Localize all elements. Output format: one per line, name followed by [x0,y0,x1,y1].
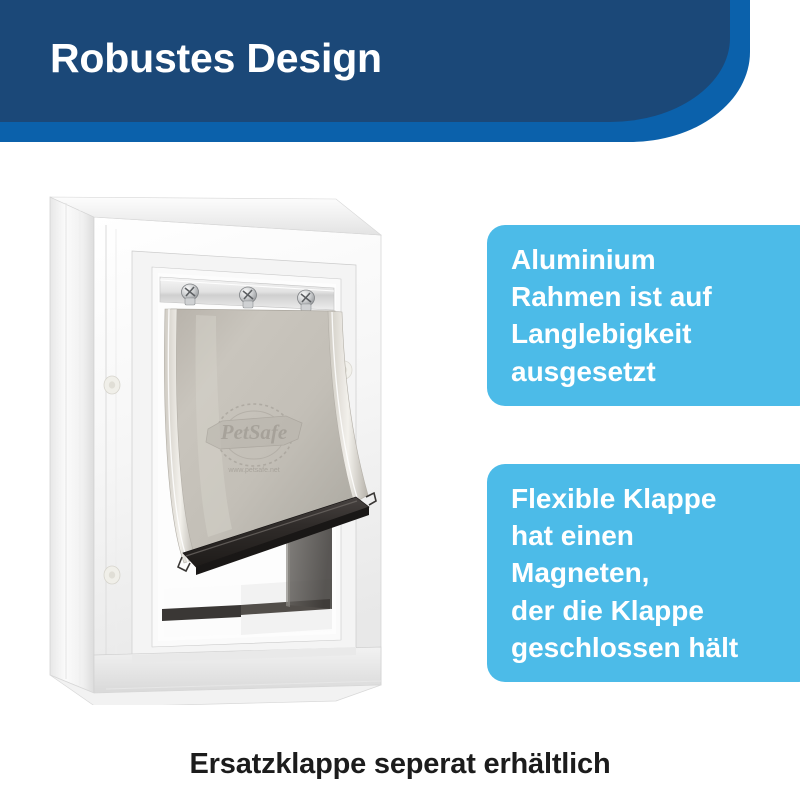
bottom-caption: Ersatzklappe seperat erhältlich [0,748,800,781]
callout-aluminium-frame: Aluminium Rahmen ist auf Langlebigkeit a… [487,225,800,406]
callout-line: geschlossen hält [511,629,797,666]
pet-door-product-image: PetSafe www.petsafe.net [36,185,396,705]
callout-line: ausgesetzt [511,353,797,390]
page-title: Robustes Design [50,38,382,79]
callout-line: Aluminium [511,241,797,278]
svg-text:www.petsafe.net: www.petsafe.net [227,467,279,474]
svg-text:PetSafe: PetSafe [220,420,287,444]
callout-flexible-flap: Flexible Klappe hat einen Magneten, der … [487,464,800,682]
callout-line: hat einen [511,517,797,554]
product-feature-graphic: Robustes Design [0,0,800,800]
callout-line: Magneten, [511,554,797,591]
callout-line: Flexible Klappe [511,480,797,517]
callout-line: Langlebigkeit [511,315,797,352]
callout-line: Rahmen ist auf [511,278,797,315]
callout-line: der die Klappe [511,592,797,629]
